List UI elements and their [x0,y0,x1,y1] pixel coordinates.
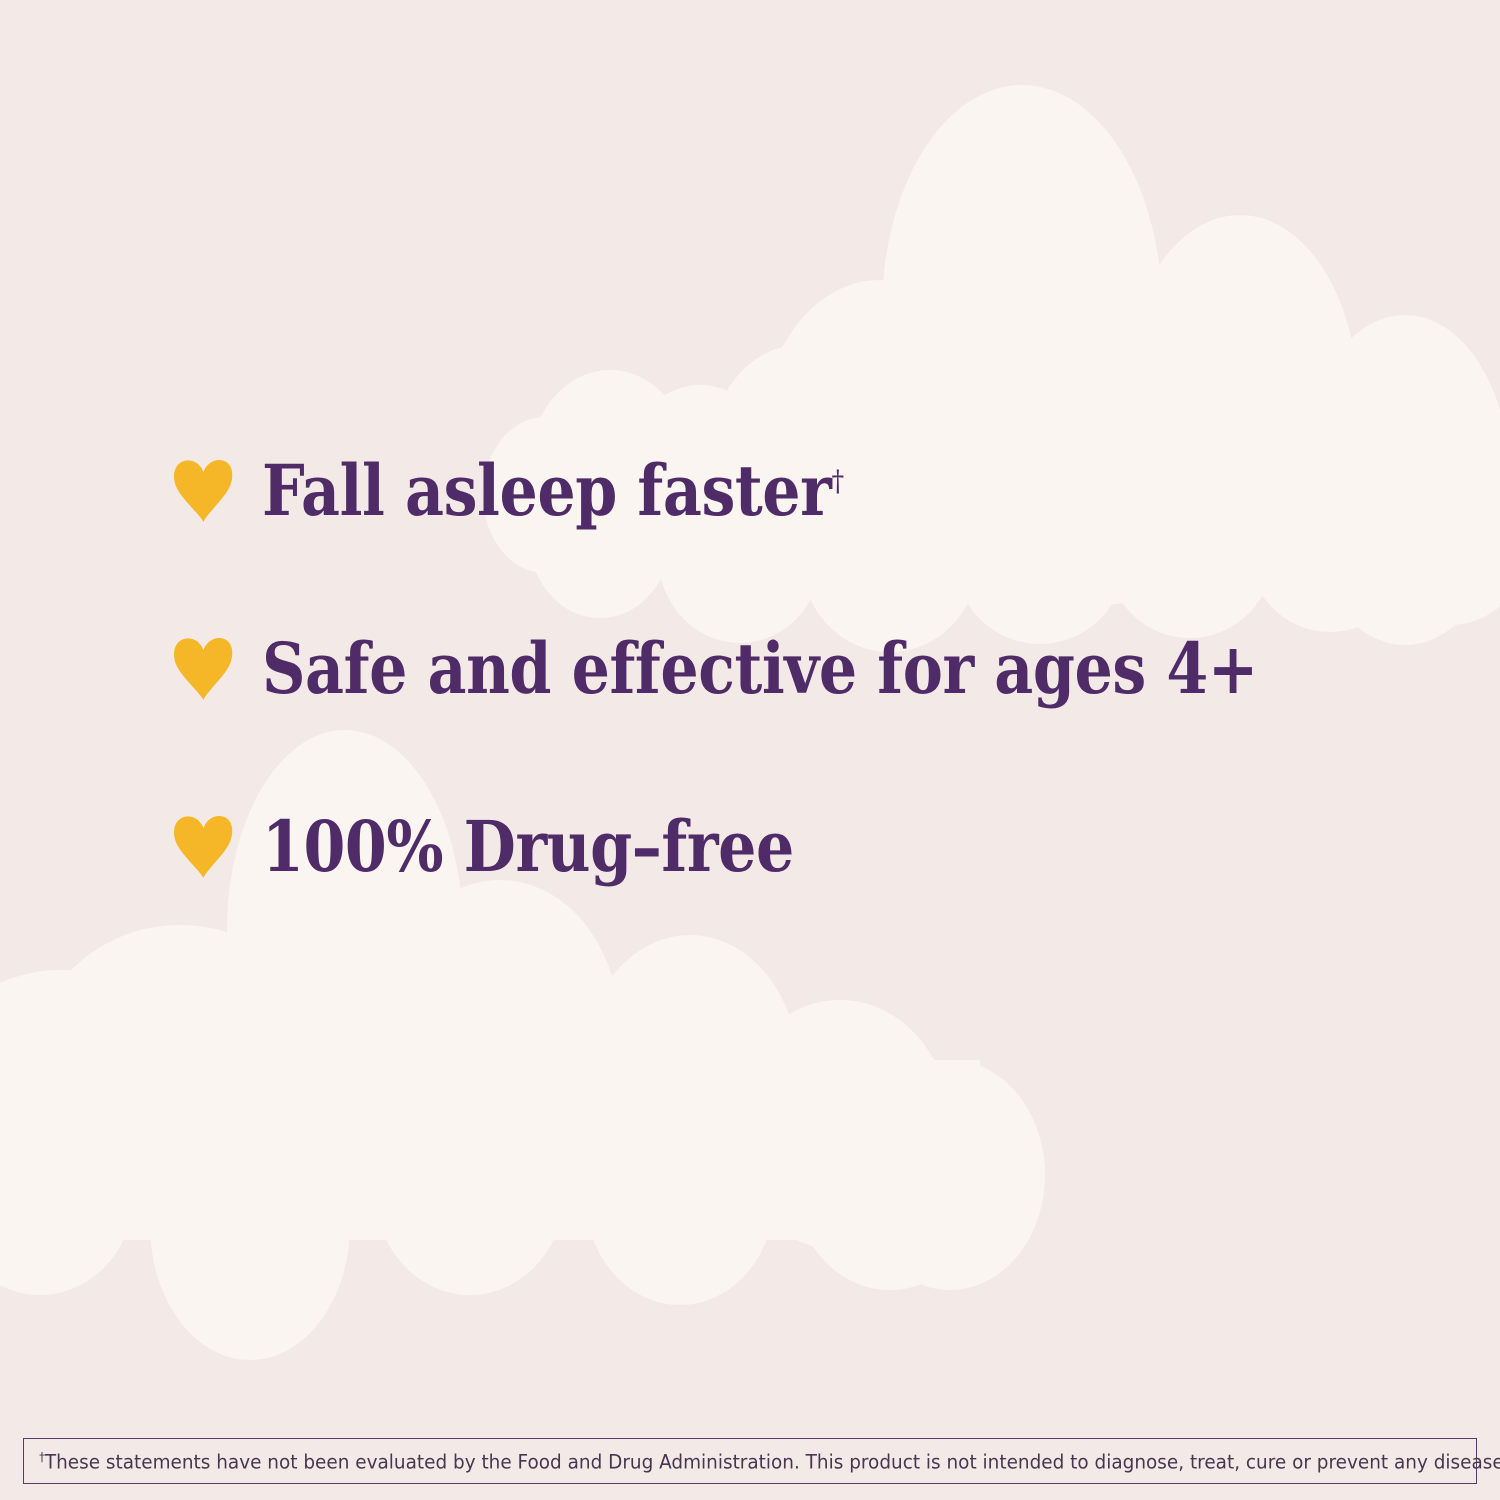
heart-icon [172,636,234,702]
benefit-label: Fall asleep faster† [262,456,844,526]
benefit-label: Safe and effective for ages 4+ [262,634,1258,704]
list-item: Safe and effective for ages 4+ [172,610,1432,728]
heart-icon [172,458,234,524]
benefit-list: Fall asleep faster† Safe and effective f… [172,432,1432,966]
footnote-marker: † [831,464,844,498]
list-item: 100% Drug–free [172,788,1432,906]
disclaimer-box: †These statements have not been evaluate… [23,1438,1477,1484]
disclaimer-text: †These statements have not been evaluate… [24,1451,1500,1472]
heart-icon [172,814,234,880]
benefit-label: 100% Drug–free [262,812,794,882]
product-benefits-card: Fall asleep faster† Safe and effective f… [0,0,1500,1500]
list-item: Fall asleep faster† [172,432,1432,550]
